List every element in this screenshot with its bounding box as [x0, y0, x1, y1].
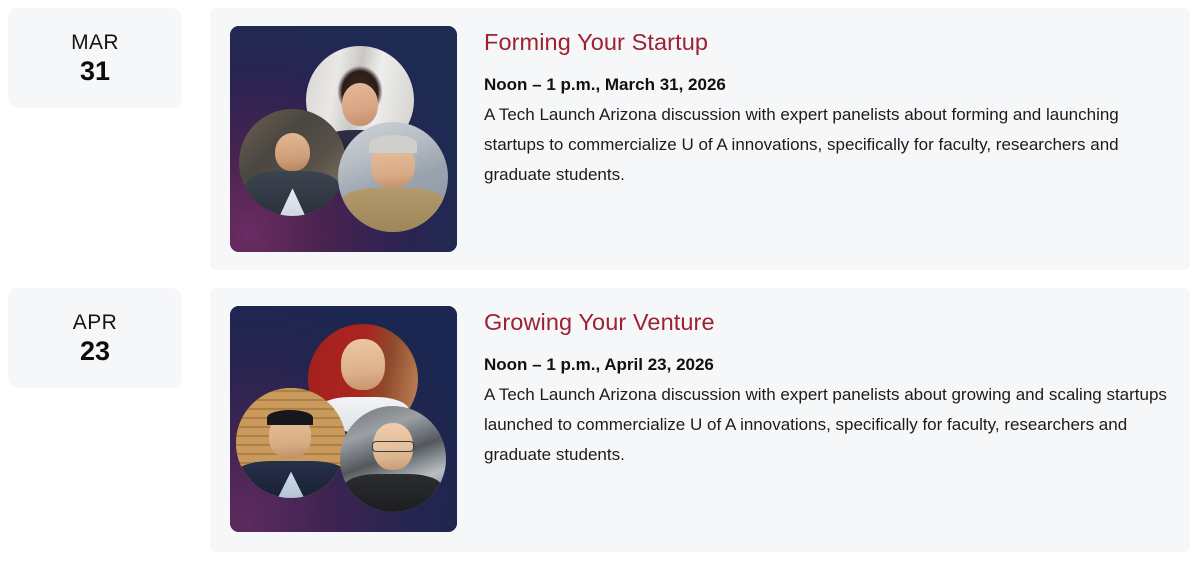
event-thumbnail[interactable] [230, 26, 457, 252]
event-date-day: 31 [80, 58, 110, 85]
event-card[interactable]: Growing Your Venture Noon – 1 p.m., Apri… [210, 288, 1190, 552]
event-date-day: 23 [80, 338, 110, 365]
event-datetime: Noon – 1 p.m., March 31, 2026 [484, 72, 1170, 98]
event-text-block: Growing Your Venture Noon – 1 p.m., Apri… [457, 306, 1170, 470]
event-description: A Tech Launch Arizona discussion with ex… [484, 100, 1170, 190]
event-title-link[interactable]: Forming Your Startup [484, 28, 1170, 57]
panelist-avatar [340, 406, 446, 512]
panelist-avatar [338, 122, 448, 232]
event-datetime: Noon – 1 p.m., April 23, 2026 [484, 352, 1170, 378]
event-date-badge: APR 23 [8, 288, 182, 388]
event-description: A Tech Launch Arizona discussion with ex… [484, 380, 1170, 470]
event-card[interactable]: Forming Your Startup Noon – 1 p.m., Marc… [210, 8, 1190, 270]
panelist-avatar [236, 388, 346, 498]
event-title-link[interactable]: Growing Your Venture [484, 308, 1170, 337]
event-text-block: Forming Your Startup Noon – 1 p.m., Marc… [457, 26, 1170, 190]
events-list: MAR 31 [0, 0, 1200, 567]
event-date-month: APR [73, 312, 117, 333]
panelist-avatar [239, 109, 346, 216]
event-date-month: MAR [71, 32, 119, 53]
event-thumbnail[interactable] [230, 306, 457, 532]
event-date-badge: MAR 31 [8, 8, 182, 108]
